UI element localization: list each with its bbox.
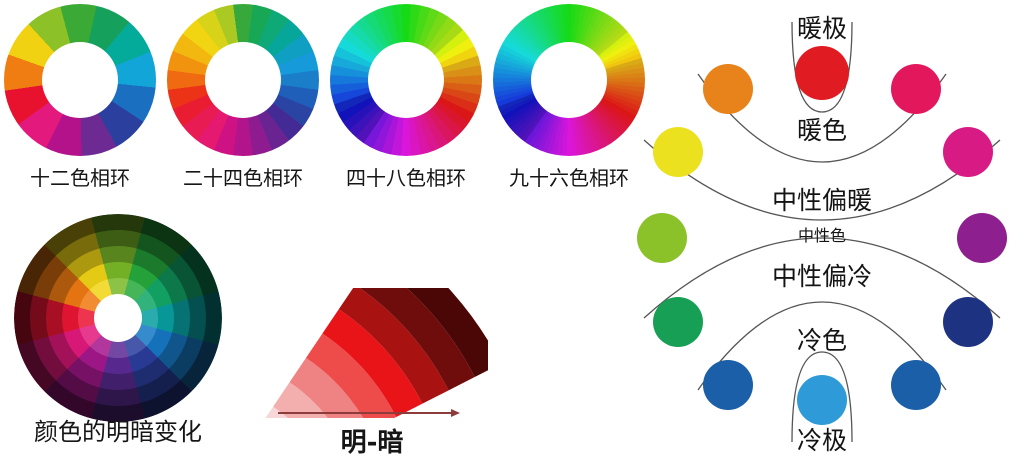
red-value-fan (258, 288, 488, 418)
color-wheel-twentyfour (167, 4, 319, 156)
temperature-label-3: 中性色 (712, 228, 932, 244)
value-wheel-center-hole (94, 294, 142, 342)
color-dot-cool-blue-left (703, 360, 753, 410)
color-dot-cool-blue-right (891, 360, 941, 410)
color-wheel-center-hole (42, 42, 118, 118)
color-dot-cold-pole-lightblue (797, 375, 847, 425)
color-dot-warm-orange (703, 64, 753, 114)
temperature-label-2: 中性偏暖 (712, 188, 932, 213)
temperature-label-1: 暖色 (712, 118, 932, 143)
infographic-canvas: 十二色相环二十四色相环四十八色相环九十六色相环 颜色的明暗变化 明-暗 暖极暖色… (0, 0, 1024, 467)
color-dot-neutral-yellowgreen (637, 213, 687, 263)
color-dot-neutral-warm-yellow (653, 127, 703, 177)
color-wheel-center-hole (531, 42, 607, 118)
red-fan-label: 明-暗 (272, 430, 472, 456)
arrow-line (278, 412, 452, 414)
color-dot-cool-green (653, 297, 703, 347)
color-wheel-twelve (4, 4, 156, 156)
color-dot-cool-navy (943, 297, 993, 347)
value-brightness-wheel (14, 214, 222, 422)
arrow-head-icon (451, 409, 460, 417)
temperature-label-5: 冷色 (712, 328, 932, 353)
value-wheel-label: 颜色的明暗变化 (0, 420, 238, 444)
color-dot-warm-pole-red (795, 46, 849, 100)
color-dot-neutral-warm-magenta (943, 127, 993, 177)
color-dot-warm-crimson (891, 64, 941, 114)
color-dot-neutral-purple (957, 213, 1007, 263)
color-wheel-label-twelve: 十二色相环 (0, 168, 170, 188)
color-wheel-fortyeight (330, 4, 482, 156)
color-wheel-center-hole (368, 42, 444, 118)
temperature-label-4: 中性偏冷 (712, 264, 932, 289)
color-temperature-diagram: 暖极暖色中性偏暖中性色中性偏冷冷色冷极 (620, 0, 1024, 467)
temperature-label-0: 暖极 (712, 16, 932, 41)
color-wheel-label-twentyfour: 二十四色相环 (153, 168, 333, 188)
color-wheel-label-fortyeight: 四十八色相环 (316, 168, 496, 188)
temperature-label-6: 冷极 (712, 428, 932, 453)
color-wheel-center-hole (205, 42, 281, 118)
brightness-direction-arrow (278, 412, 460, 422)
